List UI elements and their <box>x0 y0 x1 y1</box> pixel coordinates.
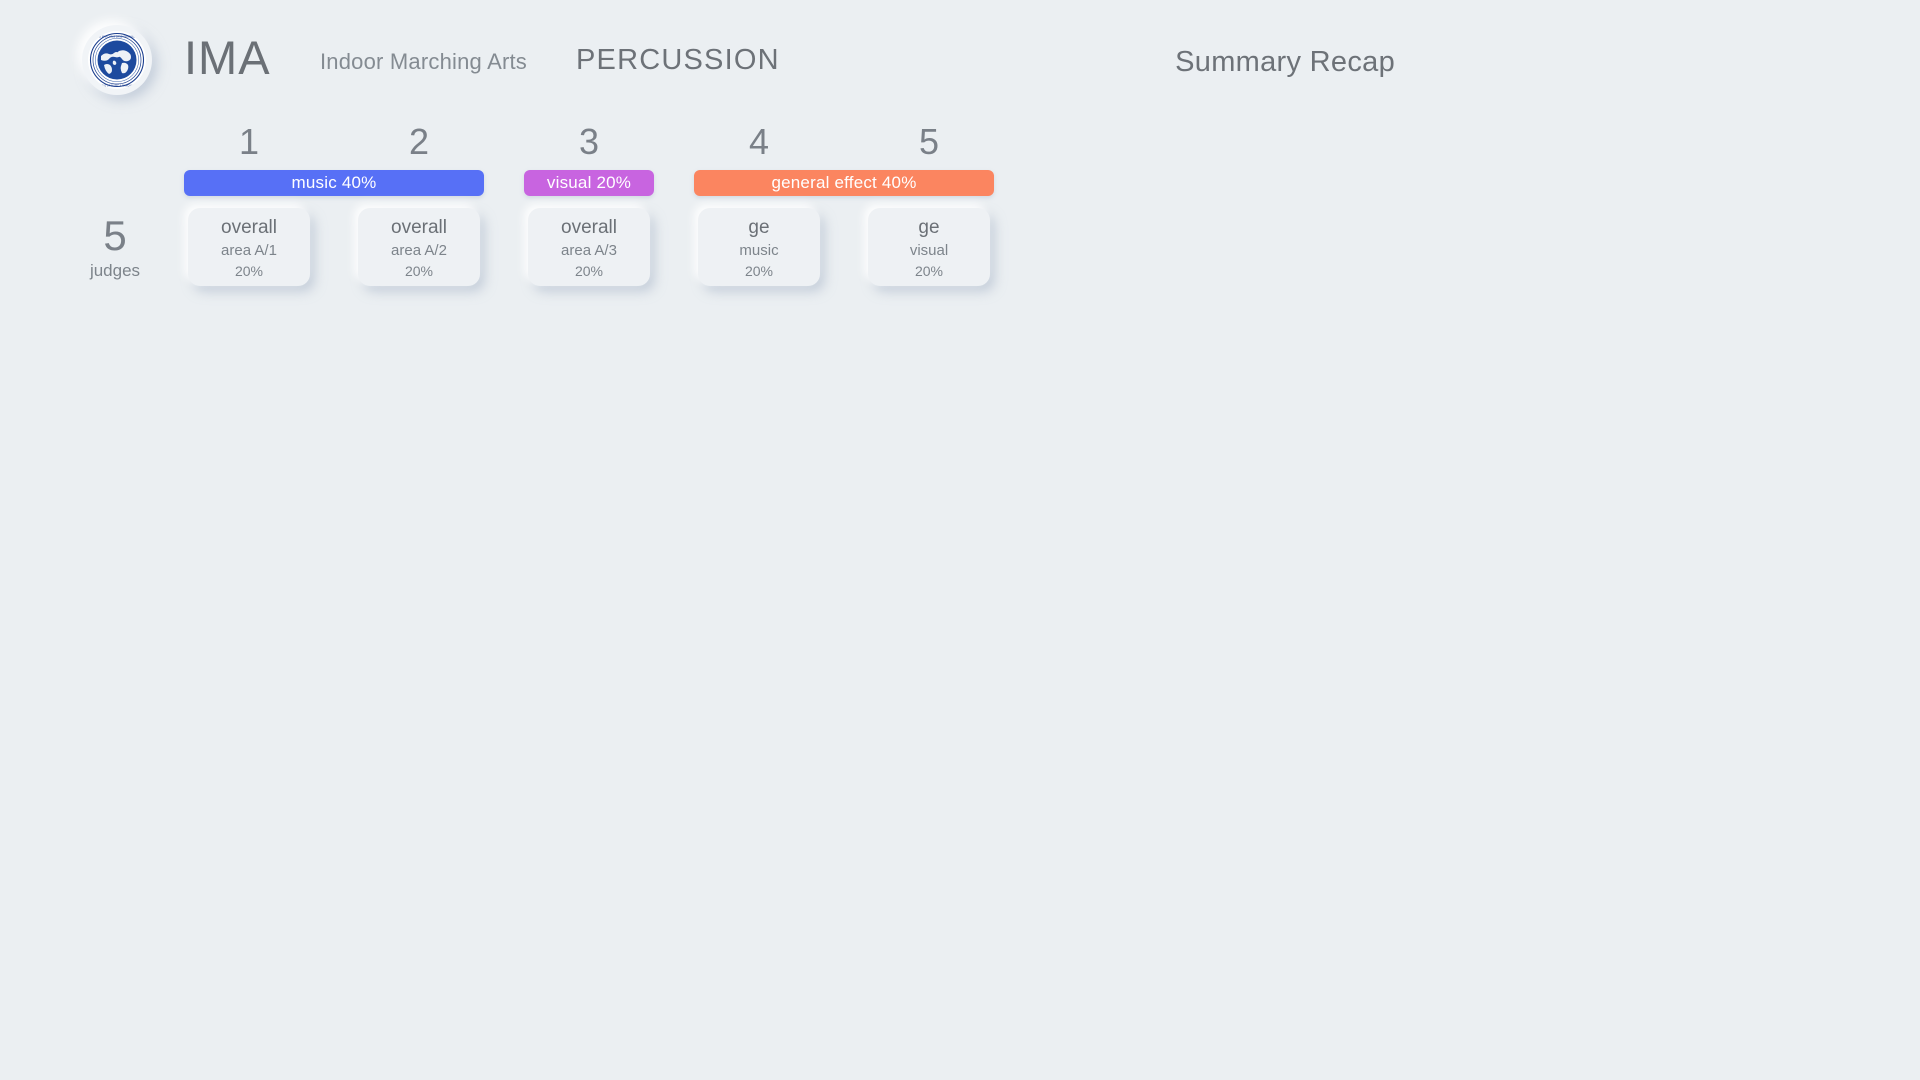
judge-card-weight: 20% <box>235 261 263 281</box>
judge-card-title: overall <box>391 216 447 240</box>
judge-card-subcaption: area A/3 <box>561 240 617 261</box>
caption-bar-label: visual 20% <box>547 173 631 193</box>
judge-card-subcaption: visual <box>910 240 948 261</box>
judge-card-title: overall <box>561 216 617 240</box>
caption-bar-1[interactable]: visual 20% <box>524 170 654 196</box>
judge-count-label: judges <box>70 259 160 283</box>
judge-number-5[interactable]: 5 <box>868 118 990 166</box>
brand-full-name: Indoor Marching Arts <box>320 47 527 77</box>
judge-count: 5 judges <box>70 213 160 283</box>
judge-card-subcaption: area A/1 <box>221 240 277 261</box>
judge-card-weight: 20% <box>915 261 943 281</box>
page-header: WORLD MARCHING BAND ORGANIZATION THE WOR… <box>0 0 1920 118</box>
judge-number-4[interactable]: 4 <box>698 118 820 166</box>
judge-card-title: overall <box>221 216 277 240</box>
judge-card-3[interactable]: overallarea A/320% <box>528 208 650 286</box>
caption-bar-label: music 40% <box>292 173 377 193</box>
division-title: PERCUSSION <box>576 40 780 80</box>
judge-card-weight: 20% <box>405 261 433 281</box>
svg-text:WORLD MARCHING BAND ORGANIZATI: WORLD MARCHING BAND ORGANIZATION <box>92 35 142 38</box>
judge-card-weight: 20% <box>745 261 773 281</box>
judge-card-title: ge <box>748 216 769 240</box>
page-title: Summary Recap <box>1175 42 1395 82</box>
judge-card-5[interactable]: gevisual20% <box>868 208 990 286</box>
caption-bar-2[interactable]: general effect 40% <box>694 170 994 196</box>
judge-card-1[interactable]: overallarea A/120% <box>188 208 310 286</box>
judge-number-3[interactable]: 3 <box>528 118 650 166</box>
caption-bar-label: general effect 40% <box>771 173 916 193</box>
globe-badge-logo: WORLD MARCHING BAND ORGANIZATION THE WOR… <box>88 31 146 89</box>
judge-card-title: ge <box>918 216 939 240</box>
judge-number-2[interactable]: 2 <box>358 118 480 166</box>
svg-text:THE WORLD OF MUSIC & MARCHING: THE WORLD OF MUSIC & MARCHING ARTS <box>92 84 143 87</box>
judge-number-1[interactable]: 1 <box>188 118 310 166</box>
judge-card-subcaption: area A/2 <box>391 240 447 261</box>
logo-button[interactable]: WORLD MARCHING BAND ORGANIZATION THE WOR… <box>82 25 152 95</box>
judge-card-4[interactable]: gemusic20% <box>698 208 820 286</box>
judge-count-value: 5 <box>70 213 160 259</box>
judge-card-2[interactable]: overallarea A/220% <box>358 208 480 286</box>
brand-abbreviation: IMA <box>184 28 271 88</box>
judge-card-weight: 20% <box>575 261 603 281</box>
judge-card-subcaption: music <box>739 240 778 261</box>
caption-bar-0[interactable]: music 40% <box>184 170 484 196</box>
